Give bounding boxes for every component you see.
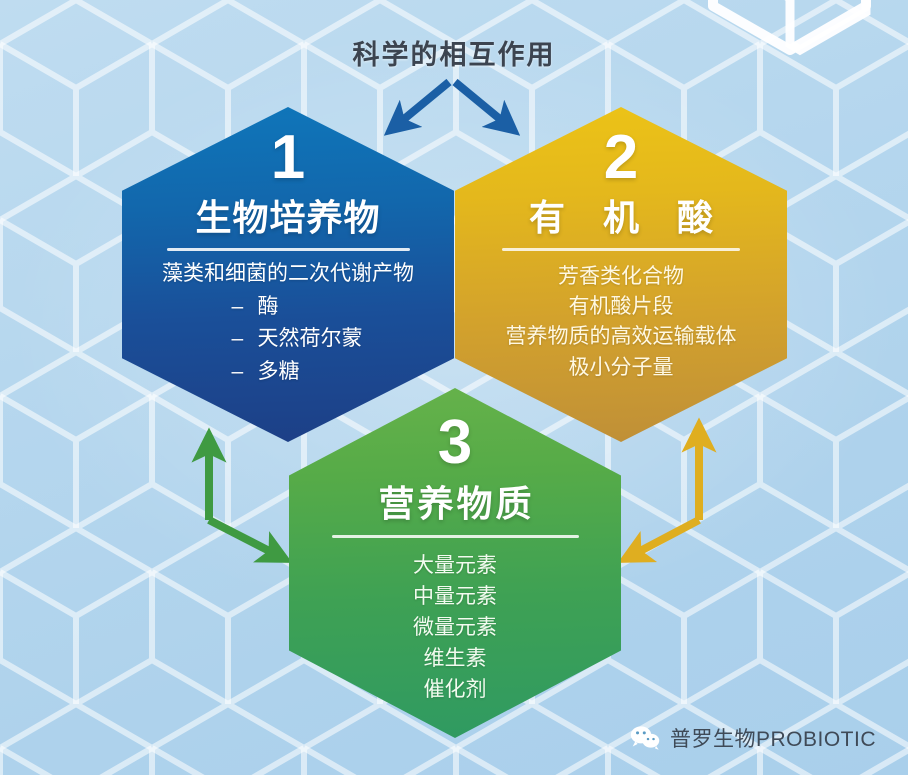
- arrow-gold-elbow: [627, 428, 699, 558]
- list-item: 中量元素: [413, 581, 497, 612]
- list-item-label: 天然荷尔蒙: [258, 327, 363, 350]
- hexagon-1-title: 生物培养物: [195, 198, 380, 238]
- list-item: 大量元素: [413, 550, 497, 581]
- arrow-green-elbow: [209, 438, 283, 558]
- brand-label: 普罗生物PROBIOTIC: [670, 723, 876, 753]
- list-item: 极小分子量: [506, 353, 737, 383]
- list-item: –多糖: [232, 356, 363, 389]
- hexagon-3-number: 3: [438, 412, 472, 474]
- page-title: 科学的相互作用: [0, 33, 908, 72]
- hexagon-3-title: 营养物质: [375, 484, 534, 524]
- hexagon-2-list: 芳香类化合物 有机酸片段 营养物质的高效运输载体 极小分子量: [506, 262, 737, 384]
- hexagon-3-list: 大量元素 中量元素 微量元素 维生素 催化剂: [413, 550, 497, 705]
- hexagon-1-number: 1: [271, 127, 305, 189]
- hexagon-1-sublist: –酶 –天然荷尔蒙 –多糖: [214, 291, 363, 389]
- hexagon-1-lead: 藻类和细菌的二次代谢产物: [162, 260, 414, 289]
- arrow-blue-double: [392, 82, 512, 129]
- list-item: –酶: [232, 291, 363, 324]
- hexagon-1-divider: [167, 248, 410, 251]
- list-item-label: 酶: [258, 295, 279, 318]
- brand-footer: 普罗生物PROBIOTIC: [629, 723, 876, 753]
- list-item: 催化剂: [413, 674, 497, 705]
- dash-bullet: –: [232, 356, 258, 389]
- list-item: 营养物质的高效运输载体: [506, 322, 737, 352]
- wechat-icon: [629, 725, 661, 751]
- hexagon-2-divider: [502, 248, 740, 251]
- list-item: 有机酸片段: [506, 292, 737, 322]
- list-item: 芳香类化合物: [506, 262, 737, 292]
- dash-bullet: –: [232, 323, 258, 356]
- hexagon-3-divider: [332, 535, 579, 538]
- dash-bullet: –: [232, 291, 258, 324]
- list-item: 维生素: [413, 643, 497, 674]
- list-item-label: 多糖: [258, 360, 300, 383]
- infographic-canvas: 科学的相互作用 1: [0, 0, 908, 775]
- hexagon-2-number: 2: [604, 127, 638, 189]
- list-item: –天然荷尔蒙: [232, 323, 363, 356]
- list-item: 微量元素: [413, 612, 497, 643]
- hexagon-2-title: 有 机 酸: [515, 198, 727, 238]
- hexagon-1-list: 藻类和细菌的二次代谢产物: [162, 260, 414, 289]
